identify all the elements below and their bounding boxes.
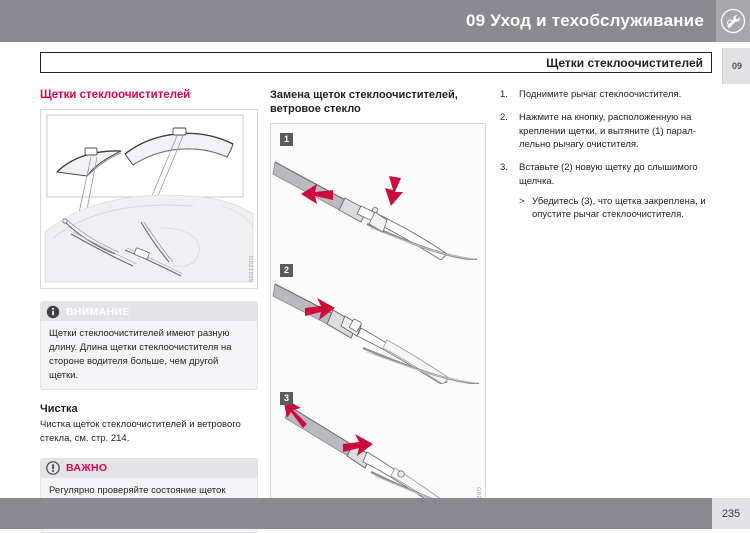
instruction-substep: Убедитесь (3), что щетка закреплена, и о… (519, 195, 714, 223)
left-column: Щетки стеклоочистителей (40, 88, 258, 533)
wiper-blades-figure-svg (41, 110, 257, 288)
wiper-blades-windshield-illustration: G021039 (40, 109, 258, 289)
instruction-list: Поднимите рычаг стеклоочистителя. Нажмит… (498, 88, 714, 222)
instruction-substep-list: Убедитесь (3), что щетка закреплена, и о… (519, 195, 714, 223)
figure-code-left: G021039 (247, 256, 253, 282)
wrench-circle-icon (720, 8, 746, 34)
page-number: 235 (712, 498, 750, 529)
instruction-substep-text: Убедитесь (3), что щетка закреплена, и о… (532, 196, 706, 221)
info-circle-icon (46, 305, 60, 319)
instruction-step-text: Вставьте (2) новую щетку до слышимого ще… (519, 162, 698, 187)
chapter-title: 09 Уход и техобслуживание (466, 11, 716, 31)
chapter-icon-container (716, 0, 750, 42)
instruction-step: Нажмите на кнопку, расположенную на креп… (498, 111, 714, 152)
wiper-blade-replacement-steps-illustration: 1 2 (270, 123, 486, 521)
note-warning-box: ВНИМАНИЕ Щетки стеклоочистителей имеют р… (40, 301, 258, 390)
note-important-header: ВАЖНО (41, 459, 257, 478)
footer-bar (0, 498, 712, 529)
middle-section-title: Замена щеток стеклоочистителей, ветровое… (270, 88, 486, 117)
chapter-header-bar: 09 Уход и техобслуживание (0, 0, 716, 42)
exclamation-circle-icon (46, 461, 60, 475)
note-warning-body: Щетки стеклоочистителей имеют разную дли… (41, 321, 257, 389)
step-badge-1: 1 (280, 133, 293, 146)
instruction-step: Вставьте (2) новую щетку до слышимого ще… (498, 161, 714, 222)
chapter-number-tab: 09 (722, 48, 750, 84)
instruction-step-text: Поднимите рычаг стеклоочистителя. (519, 89, 681, 100)
step-badge-2: 2 (280, 264, 293, 277)
note-important-label: ВАЖНО (66, 462, 107, 474)
left-section-title: Щетки стеклоочистителей (40, 88, 258, 102)
step-1-illustration (271, 128, 485, 260)
page-title: Щетки стеклоочистителей (546, 56, 711, 70)
step-2-illustration (271, 258, 485, 384)
step-badge-3: 3 (280, 392, 293, 405)
note-warning-header: ВНИМАНИЕ (41, 302, 257, 321)
note-warning-label: ВНИМАНИЕ (66, 306, 130, 318)
middle-column: Замена щеток стеклоочистителей, ветровое… (270, 88, 486, 521)
right-column: Поднимите рычаг стеклоочистителя. Нажмит… (498, 88, 714, 231)
cleaning-text: Чистка щеток стеклоочистителей и ветрово… (40, 418, 258, 446)
page-title-frame: Щетки стеклоочистителей (40, 52, 712, 73)
instruction-step-text: Нажмите на кнопку, расположенную на креп… (519, 112, 696, 151)
instruction-step: Поднимите рычаг стеклоочистителя. (498, 88, 714, 102)
cleaning-heading: Чистка (40, 403, 258, 415)
step-3-illustration (271, 386, 485, 512)
